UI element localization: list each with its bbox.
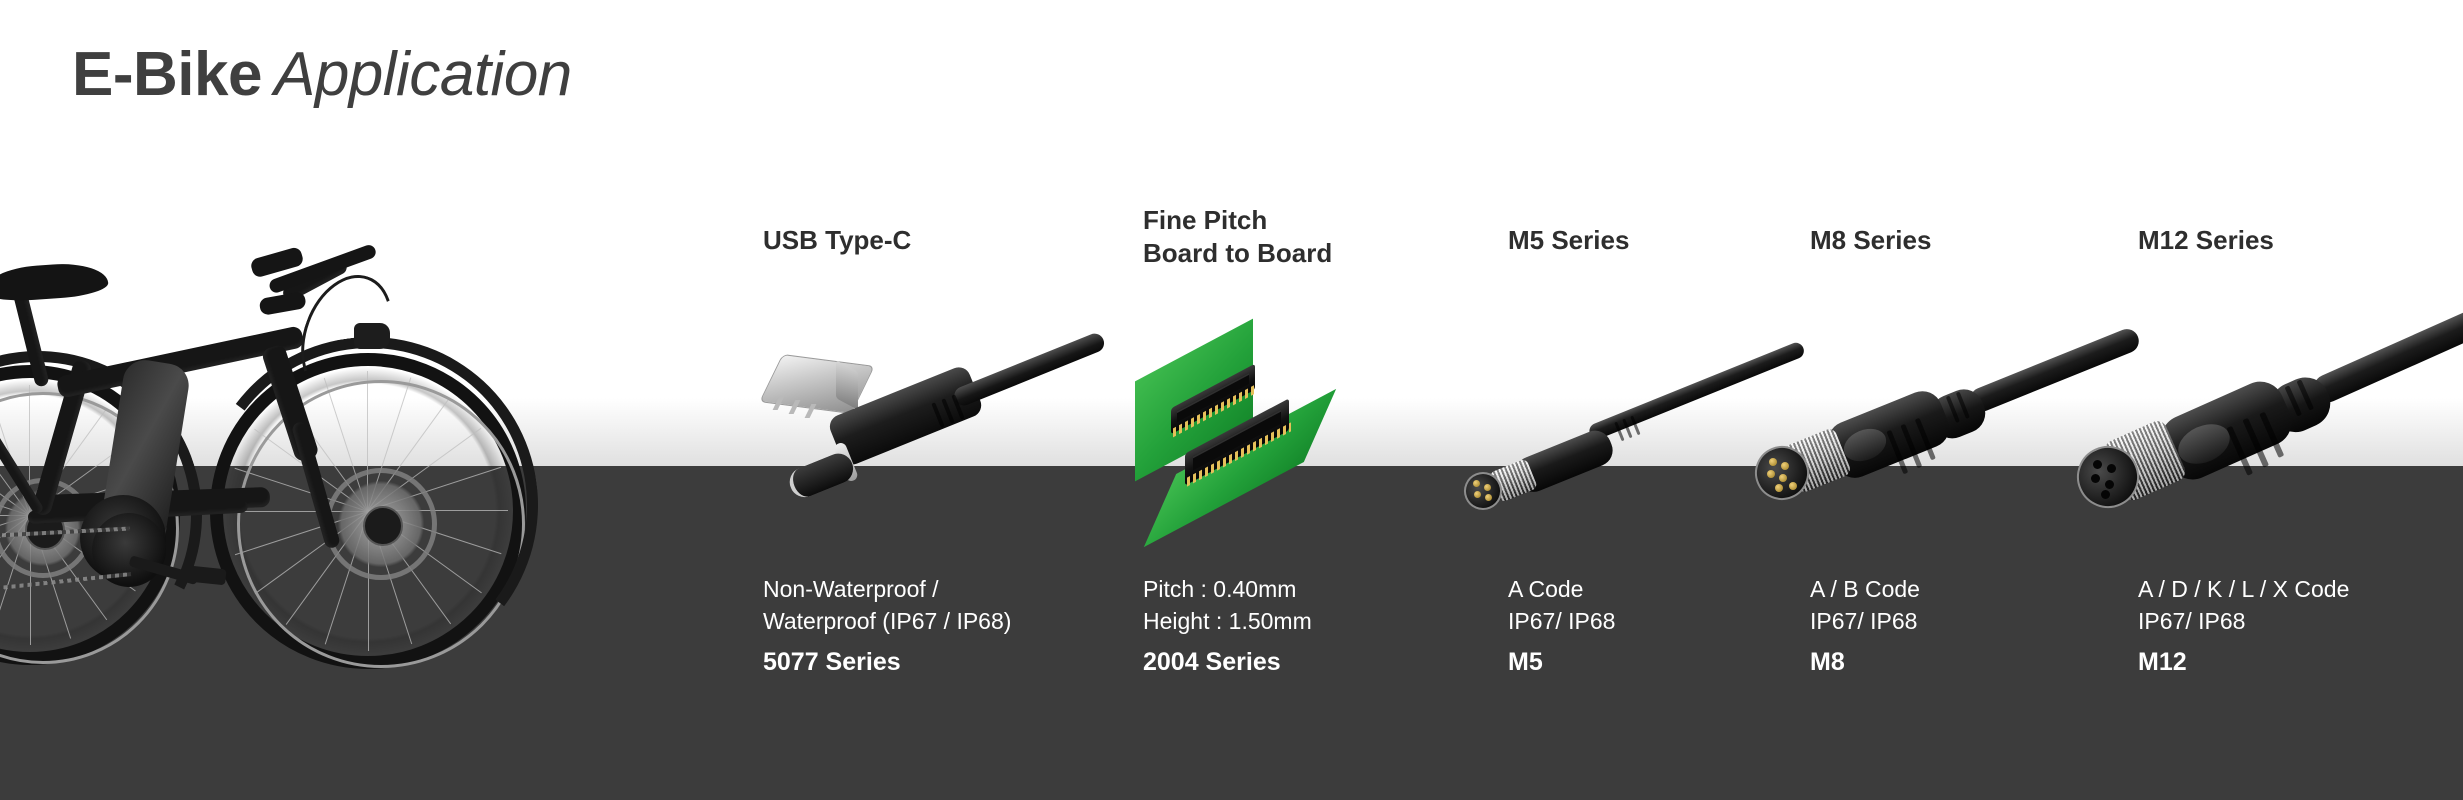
m5-pin <box>1474 491 1481 498</box>
column-caption-m8: A / B Code IP67/ IP68 <box>1810 573 1920 637</box>
column-series-m5: M5 <box>1508 646 1543 678</box>
m12-socket-hole <box>2091 474 2100 483</box>
column-caption-m5: A Code IP67/ IP68 <box>1508 573 1615 637</box>
column-header-m12: M12 Series <box>2138 224 2274 257</box>
column-header-m5: M5 Series <box>1508 224 1629 257</box>
m12-product-image <box>2075 272 2463 542</box>
m12-socket-hole <box>2093 460 2102 469</box>
page-title: E-BikeApplication <box>72 40 572 110</box>
ebike-illustration <box>0 165 580 705</box>
right-grip <box>259 291 307 316</box>
usb-type-c-plug-tip <box>785 449 857 502</box>
column-caption-usb-type-c: Non-Waterproof / Waterproof (IP67 / IP68… <box>763 573 1011 637</box>
column-series-board-to-board: 2004 Series <box>1143 646 1281 678</box>
m12-socket-hole <box>2105 480 2114 489</box>
m5-pin <box>1473 480 1480 487</box>
m8-pin <box>1769 458 1777 466</box>
page-title-italic: Application <box>274 40 572 109</box>
headlight <box>354 323 390 349</box>
column-header-board-to-board: Fine Pitch Board to Board <box>1143 204 1332 270</box>
column-series-m8: M8 <box>1810 646 1845 678</box>
m8-pin <box>1767 470 1775 478</box>
column-header-usb-type-c: USB Type-C <box>763 224 911 257</box>
column-series-usb-type-c: 5077 Series <box>763 646 901 678</box>
page-title-bold: E-Bike <box>72 40 262 109</box>
saddle <box>0 261 109 304</box>
column-series-m12: M12 <box>2138 646 2187 678</box>
m12-socket-hole <box>2107 464 2116 473</box>
usb-cable <box>951 331 1106 409</box>
m8-pin <box>1779 474 1787 482</box>
m5-pin <box>1485 494 1492 501</box>
usb-type-c-product-image <box>740 330 1100 520</box>
m12-socket-hole <box>2101 490 2110 499</box>
board-to-board-product-image <box>1125 340 1425 520</box>
column-header-m8: M8 Series <box>1810 224 1931 257</box>
m8-pin <box>1781 462 1789 470</box>
column-caption-board-to-board: Pitch : 0.40mm Height : 1.50mm <box>1143 573 1312 637</box>
m8-pin <box>1775 484 1783 492</box>
poster-canvas: E-BikeApplication <box>0 0 2463 800</box>
m8-pin <box>1789 482 1797 490</box>
column-caption-m12: A / D / K / L / X Code IP67/ IP68 <box>2138 573 2349 637</box>
m12-cable <box>2309 300 2463 407</box>
m5-pin <box>1484 484 1491 491</box>
